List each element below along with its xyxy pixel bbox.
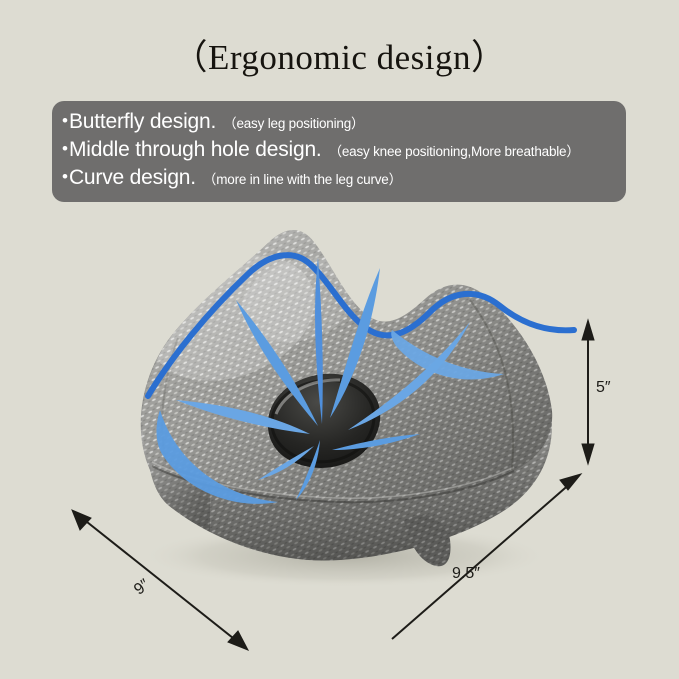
height-arrow [582, 320, 594, 464]
product-illustration: 5″ 9.5″ 9″ [0, 0, 679, 679]
dimension-width-label: 9.5″ [452, 565, 480, 583]
pillow-body [120, 210, 590, 590]
product-infographic: （Ergonomic design） • Butterfly design. （… [0, 0, 679, 679]
dimension-height-label: 5″ [596, 379, 611, 397]
